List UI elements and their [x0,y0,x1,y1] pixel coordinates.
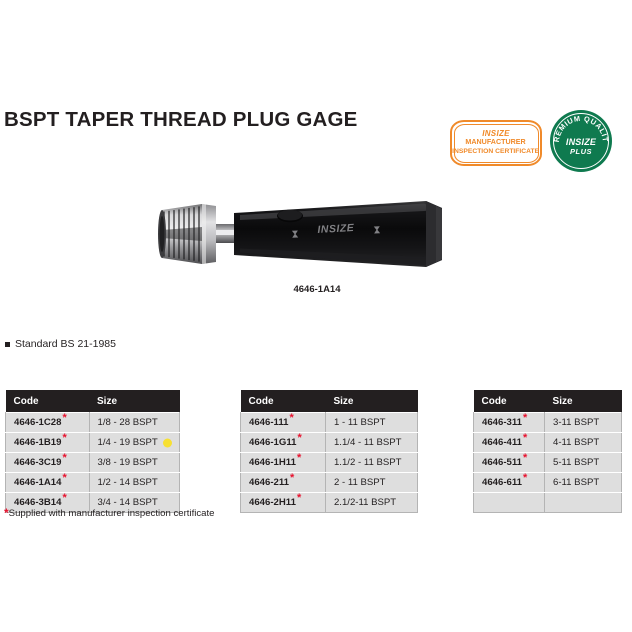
certificate-asterisk-icon: * [62,472,66,484]
premium-badge-sub: PLUS [550,147,612,156]
table-row[interactable]: 4646-411*4-11 BSPT [474,433,622,453]
spec-table-3: CodeSize4646-311*3-11 BSPT4646-411*4-11 … [473,390,622,513]
footnote-text: Supplied with manufacturer inspection ce… [9,508,215,519]
cell-code: 4646-511* [474,453,545,473]
product-photo-plug-gage: INSIZE [150,186,484,282]
certificate-asterisk-icon: * [290,412,294,424]
cell-code: 4646-1H11* [241,453,326,473]
certificate-asterisk-icon: * [62,492,66,504]
table-row[interactable]: 4646-1B19*1/4 - 19 BSPT [6,433,180,453]
cell-code: 4646-1G11* [241,433,326,453]
certificate-badge-brand: INSIZE [482,130,510,138]
table-row[interactable]: 4646-1G11*1.1/4 - 11 BSPT [241,433,418,453]
cell-size: 1.1/4 - 11 BSPT [325,433,417,453]
cell-code: 4646-3C19* [6,453,90,473]
cell-size: 3-11 BSPT [545,413,622,433]
certificate-asterisk-icon: * [290,472,294,484]
table-row[interactable]: 4646-1A14*1/2 - 14 BSPT [6,473,180,493]
cell-size: 3/8 - 19 BSPT [89,453,179,473]
cell-code: 4646-1A14* [6,473,90,493]
cell-size: 1.1/2 - 11 BSPT [325,453,417,473]
cell-code: 4646-2H11* [241,493,326,513]
cell-size: 1 - 11 BSPT [325,413,417,433]
column-header-size: Size [89,390,179,413]
cell-code: 4646-211* [241,473,326,493]
page-title: BSPT TAPER THREAD PLUG GAGE [4,108,358,132]
column-header-code: Code [6,390,90,413]
cell-code: 4646-1C28* [6,413,90,433]
cell-code: 4646-1B19* [6,433,90,453]
cell-code: 4646-611* [474,473,545,493]
cell-size [545,493,622,513]
product-figure: INSIZE 4646-1A14 [150,186,484,304]
column-header-size: Size [545,390,622,413]
row-highlight-dot-icon [163,438,172,447]
spec-table-1: CodeSize4646-1C28*1/8 - 28 BSPT4646-1B19… [5,390,180,513]
table-header-row: CodeSize [241,390,418,413]
certificate-badge-line2: INSPECTION CERTIFICATE [453,148,540,156]
cell-size: 5-11 BSPT [545,453,622,473]
certificate-badge-inner: INSIZE MANUFACTURER INSPECTION CERTIFICA… [454,124,539,163]
certificate-badge-line1: MANUFACTURER [466,139,526,147]
table-row[interactable]: 4646-2H11*2.1/2-11 BSPT [241,493,418,513]
premium-quality-badge: PREMIUM QUALITY INSIZE PLUS [550,110,612,172]
table-row[interactable]: 4646-3C19*3/8 - 19 BSPT [6,453,180,473]
cell-code: 4646-411* [474,433,545,453]
table-row[interactable]: 4646-511*5-11 BSPT [474,453,622,473]
column-header-code: Code [241,390,326,413]
certificate-asterisk-icon: * [523,412,527,424]
table-header-row: CodeSize [6,390,180,413]
footnote: *Supplied with manufacturer inspection c… [4,506,215,520]
certificate-asterisk-icon: * [62,412,66,424]
cell-code: 4646-111* [241,413,326,433]
table-row[interactable]: 4646-611*6-11 BSPT [474,473,622,493]
cell-size: 1/4 - 19 BSPT [89,433,179,453]
cell-size: 1/8 - 28 BSPT [89,413,179,433]
certificate-asterisk-icon: * [62,452,66,464]
table-row[interactable]: 4646-1C28*1/8 - 28 BSPT [6,413,180,433]
cell-size: 2 - 11 BSPT [325,473,417,493]
table-row[interactable]: 4646-211*2 - 11 BSPT [241,473,418,493]
table-header-row: CodeSize [474,390,622,413]
spec-table-2: CodeSize4646-111*1 - 11 BSPT4646-1G11*1.… [240,390,418,513]
product-caption: 4646-1A14 [150,284,484,295]
certificate-asterisk-icon: * [297,452,301,464]
certificate-asterisk-icon: * [523,472,527,484]
table-row[interactable]: 4646-311*3-11 BSPT [474,413,622,433]
cell-size: 6-11 BSPT [545,473,622,493]
premium-badge-core: INSIZE PLUS [550,138,612,156]
cell-code: 4646-311* [474,413,545,433]
svg-text:INSIZE: INSIZE [317,222,355,236]
square-bullet-icon [5,342,10,347]
cell-size: 4-11 BSPT [545,433,622,453]
table-row[interactable]: 4646-1H11*1.1/2 - 11 BSPT [241,453,418,473]
column-header-code: Code [474,390,545,413]
standard-note-text: Standard BS 21-1985 [15,338,116,350]
certificate-asterisk-icon: * [62,432,66,444]
manufacturer-inspection-certificate-badge: INSIZE MANUFACTURER INSPECTION CERTIFICA… [450,120,542,166]
cell-size: 2.1/2-11 BSPT [325,493,417,513]
certificate-asterisk-icon: * [297,432,301,444]
standard-note: Standard BS 21-1985 [5,338,116,350]
cell-size: 1/2 - 14 BSPT [89,473,179,493]
certificate-asterisk-icon: * [297,492,301,504]
certificate-asterisk-icon: * [523,432,527,444]
premium-badge-brand: INSIZE [550,138,612,147]
badge-group: INSIZE MANUFACTURER INSPECTION CERTIFICA… [444,106,624,172]
cell-code [474,493,545,513]
certificate-asterisk-icon: * [523,452,527,464]
column-header-size: Size [325,390,417,413]
table-row[interactable]: 4646-111*1 - 11 BSPT [241,413,418,433]
table-row[interactable] [474,493,622,513]
